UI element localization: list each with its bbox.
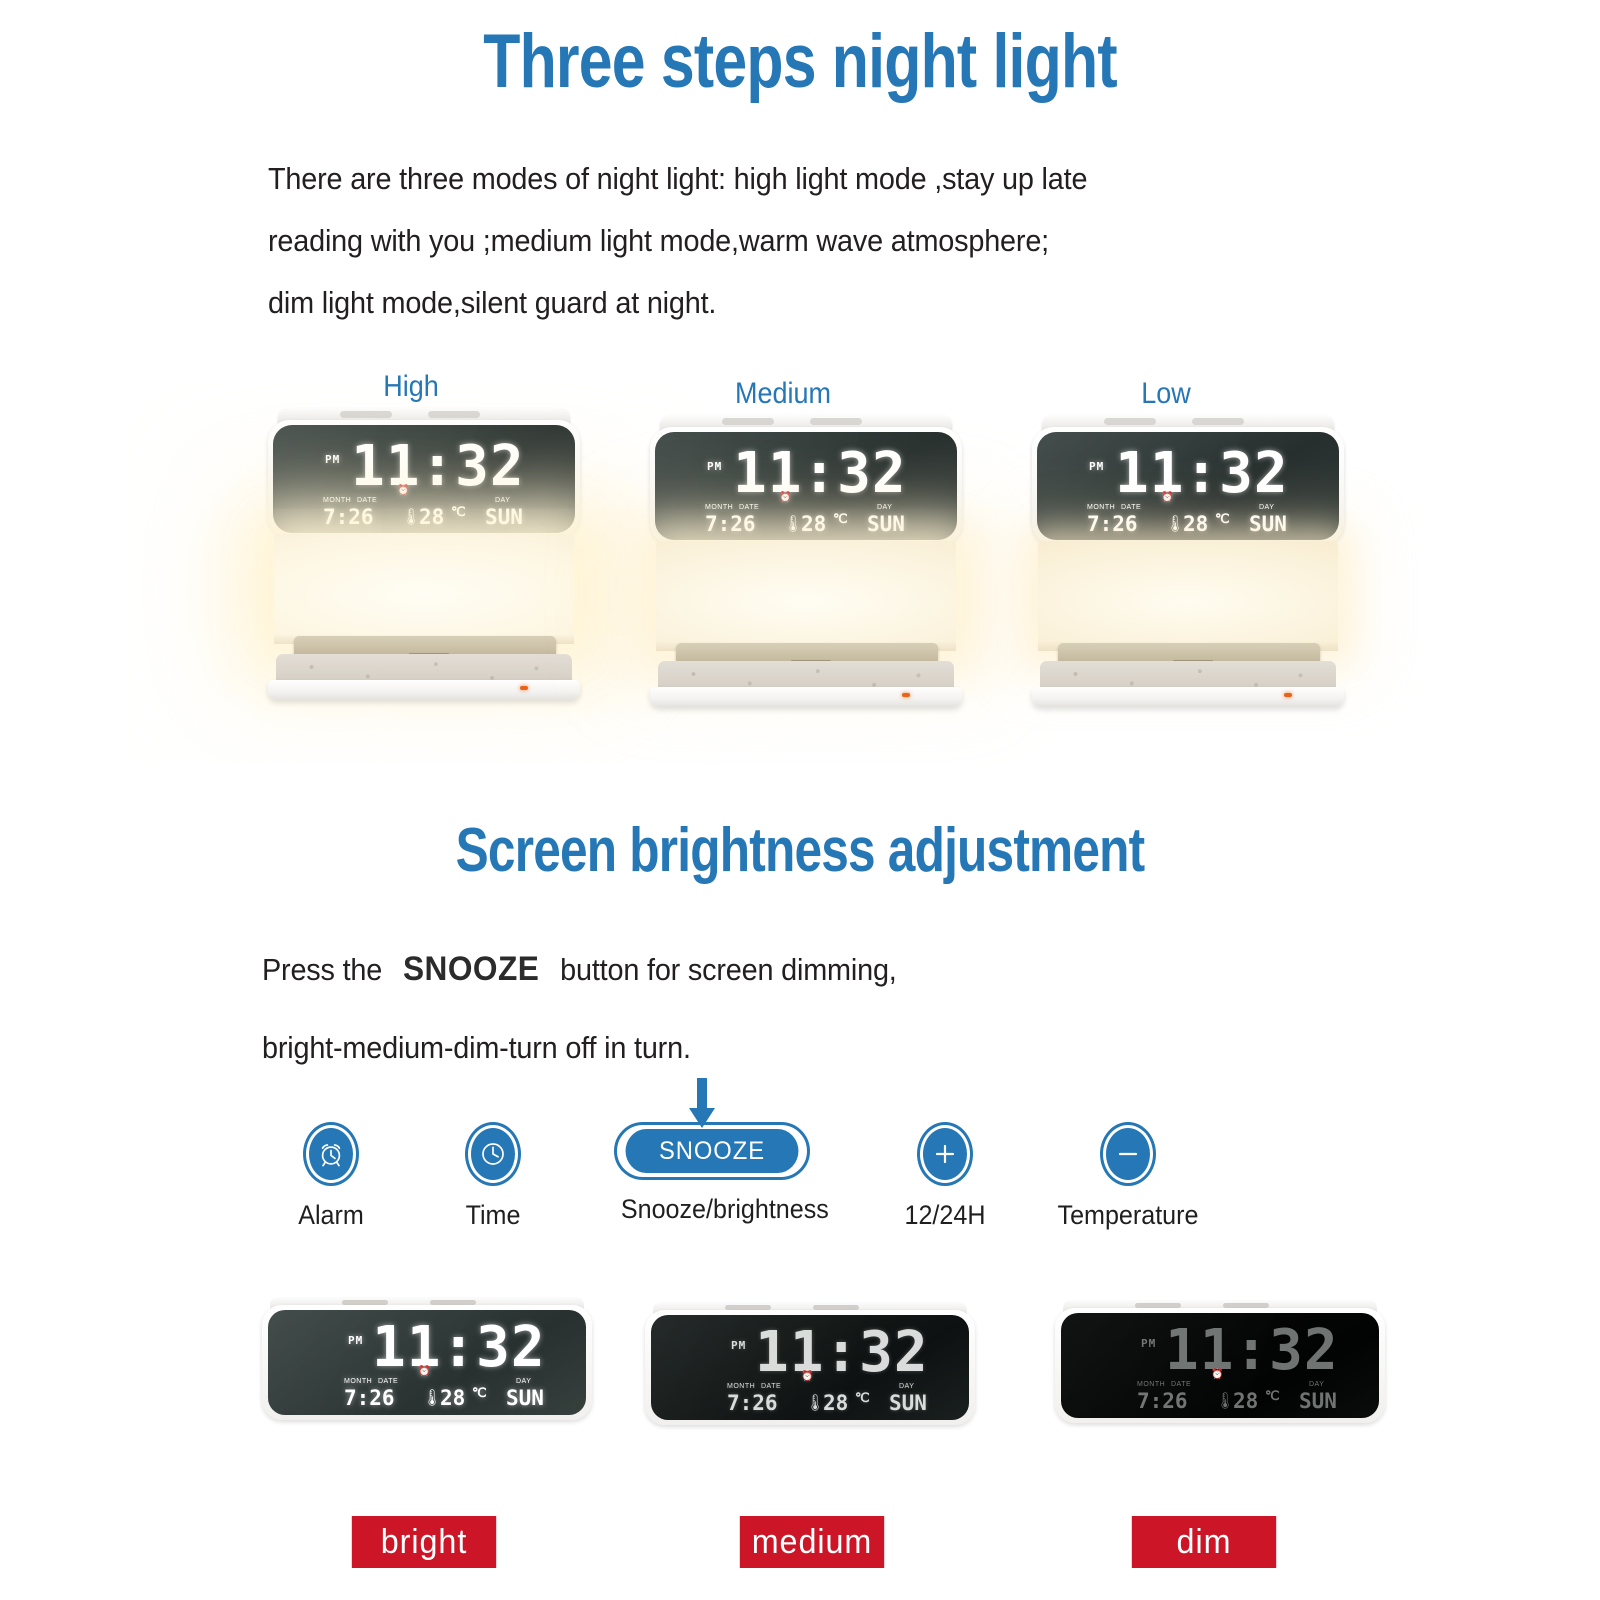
device-base: [650, 687, 962, 707]
lcd-month-label: MONTH: [1087, 504, 1115, 511]
lcd-month-label: MONTH: [727, 1383, 755, 1390]
callout-bright: bright: [348, 1502, 500, 1558]
lcd-time: 11:32: [1115, 446, 1289, 502]
device-screen-housing: PM 11:32 MONTH DATE 7:26 🌡 28 ℃ DAY SUN …: [650, 427, 962, 545]
lcd-time: 11:32: [372, 1320, 546, 1376]
night-light-paragraph: There are three modes of night light: hi…: [268, 148, 1087, 334]
clock-icon: [471, 1128, 515, 1180]
time-button-ring[interactable]: [465, 1122, 521, 1186]
device-housing: PM 11:32 MONTH DATE 7:26 🌡 28 ℃ DAY SUN …: [1055, 1308, 1385, 1423]
device-screen-housing: PM 11:32 MONTH DATE 7:26 🌡 28 ℃ DAY SUN …: [268, 420, 580, 538]
button-snooze[interactable]: SNOOZE Snooze/brightness: [614, 1122, 810, 1225]
device-lcd-screen: PM 11:32 MONTH DATE 7:26 🌡 28 ℃ DAY SUN …: [1037, 432, 1339, 540]
device-lcd-screen: PM 11:32 MONTH DATE 7:26 🌡 28 ℃ DAY SUN …: [651, 1315, 969, 1420]
lcd-meridiem: PM: [1089, 460, 1104, 473]
alarm-bell-indicator-icon: ⏰: [1211, 1369, 1223, 1380]
lcd-day: SUN: [506, 1386, 544, 1410]
lcd-day: SUN: [867, 512, 905, 536]
lcd-day-label: DAY: [1309, 1381, 1324, 1388]
lcd-temp-unit: ℃: [1265, 1389, 1280, 1404]
alarm-button-ring[interactable]: [303, 1122, 359, 1186]
lcd-day-label: DAY: [495, 497, 510, 504]
device-lcd-screen: PM 11:32 MONTH DATE 7:26 🌡 28 ℃ DAY SUN …: [268, 1310, 586, 1415]
device-base: [268, 680, 580, 700]
thermometer-icon: 🌡: [422, 1388, 442, 1407]
snooze-button-ring[interactable]: SNOOZE: [614, 1122, 810, 1180]
paragraph-line-1: Press the SNOOZE button for screen dimmi…: [262, 930, 897, 1009]
button-label: Time: [400, 1200, 586, 1231]
charging-led-indicator: [520, 686, 528, 690]
callout-label: bright: [352, 1516, 496, 1568]
lcd-temp-unit: ℃: [855, 1391, 870, 1406]
lcd-meridiem: PM: [1141, 1337, 1156, 1350]
lcd-date-label: DATE: [378, 1378, 398, 1385]
lcd-date-label: DATE: [357, 497, 377, 504]
lcd-meridiem: PM: [325, 453, 340, 466]
lcd-meridiem: PM: [348, 1334, 363, 1347]
screen-sample-dim: PM 11:32 MONTH DATE 7:26 🌡 28 ℃ DAY SUN …: [1055, 1300, 1385, 1425]
alarm-clock-icon: [309, 1128, 353, 1180]
lcd-temperature: 28: [823, 1391, 848, 1415]
button-for-text: button for screen dimming,: [560, 952, 896, 987]
lcd-month-label: MONTH: [705, 504, 733, 511]
lcd-day-label: DAY: [516, 1378, 531, 1385]
alarm-bell-indicator-icon: ⏰: [1161, 492, 1173, 503]
thermometer-icon: 🌡: [401, 507, 421, 526]
mode-caption-low: Low: [1049, 377, 1283, 411]
lcd-temperature: 28: [1233, 1389, 1258, 1413]
lcd-day: SUN: [1299, 1389, 1337, 1413]
night-light-device-high: PM 11:32 MONTH DATE 7:26 🌡 28 ℃ DAY SUN …: [258, 408, 588, 708]
device-housing: PM 11:32 MONTH DATE 7:26 🌡 28 ℃ DAY SUN …: [645, 1310, 975, 1425]
paragraph-line: There are three modes of night light: hi…: [268, 148, 1087, 210]
lcd-day-label: DAY: [877, 504, 892, 511]
lcd-date: 7:26: [344, 1386, 395, 1410]
press-the-text: Press the: [262, 952, 382, 987]
lcd-day: SUN: [1249, 512, 1287, 536]
plus-button-ring[interactable]: [917, 1122, 973, 1186]
lcd-time: 11:32: [1165, 1323, 1339, 1379]
thermometer-icon: 🌡: [1215, 1391, 1235, 1410]
lcd-date-label: DATE: [739, 504, 759, 511]
mode-caption-high: High: [294, 370, 528, 404]
night-light-panel: [274, 534, 574, 644]
lcd-day-label: DAY: [899, 1383, 914, 1390]
lcd-date-label: DATE: [1171, 1381, 1191, 1388]
night-light-device-low: PM 11:32 MONTH DATE 7:26 🌡 28 ℃ DAY SUN …: [1022, 415, 1352, 715]
lcd-date: 7:26: [705, 512, 756, 536]
callout-dim: dim: [1128, 1502, 1280, 1558]
lcd-temperature: 28: [1183, 512, 1208, 536]
paragraph-line: reading with you ;medium light mode,warm…: [268, 210, 1087, 272]
night-light-panel: [1038, 541, 1338, 651]
page-title-brightness: Screen brightness adjustment: [160, 815, 1440, 886]
button-12-24h[interactable]: 12/24H: [845, 1122, 1045, 1231]
page-title-night-light: Three steps night light: [160, 18, 1440, 105]
plus-icon: [923, 1128, 967, 1180]
thermometer-icon: 🌡: [805, 1393, 825, 1412]
device-lcd-screen: PM 11:32 MONTH DATE 7:26 🌡 28 ℃ DAY SUN …: [273, 425, 575, 533]
lcd-temperature: 28: [801, 512, 826, 536]
callout-medium: medium: [736, 1502, 888, 1558]
device-screen-housing: PM 11:32 MONTH DATE 7:26 🌡 28 ℃ DAY SUN …: [1032, 427, 1344, 545]
lcd-meridiem: PM: [707, 460, 722, 473]
lcd-date-label: DATE: [1121, 504, 1141, 511]
callout-label: medium: [740, 1516, 884, 1568]
lcd-time: 11:32: [351, 439, 525, 495]
lcd-time: 11:32: [733, 446, 907, 502]
button-label: 12/24H: [852, 1200, 1038, 1231]
lcd-day-label: DAY: [1259, 504, 1274, 511]
device-lcd-screen: PM 11:32 MONTH DATE 7:26 🌡 28 ℃ DAY SUN …: [655, 432, 957, 540]
device-lcd-screen: PM 11:32 MONTH DATE 7:26 🌡 28 ℃ DAY SUN …: [1061, 1313, 1379, 1418]
lcd-time: 11:32: [755, 1325, 929, 1381]
night-light-device-medium: PM 11:32 MONTH DATE 7:26 🌡 28 ℃ DAY SUN …: [640, 415, 970, 715]
lcd-month-label: MONTH: [1137, 1381, 1165, 1388]
lcd-day: SUN: [485, 505, 523, 529]
lcd-temp-unit: ℃: [451, 505, 466, 520]
night-light-panel: [656, 541, 956, 651]
snooze-emphasis: SNOOZE: [390, 950, 552, 988]
button-temperature[interactable]: Temperature: [1028, 1122, 1228, 1231]
lcd-month-label: MONTH: [344, 1378, 372, 1385]
thermometer-icon: 🌡: [1165, 514, 1185, 533]
lcd-meridiem: PM: [731, 1339, 746, 1352]
snooze-button-label: SNOOZE: [626, 1129, 799, 1173]
lcd-temp-unit: ℃: [833, 512, 848, 527]
alarm-bell-indicator-icon: ⏰: [397, 485, 409, 496]
charging-led-indicator: [902, 693, 910, 697]
lcd-date: 7:26: [323, 505, 374, 529]
callout-label: dim: [1132, 1516, 1276, 1568]
lcd-month-label: MONTH: [323, 497, 351, 504]
lcd-temp-unit: ℃: [1215, 512, 1230, 527]
lcd-date: 7:26: [727, 1391, 778, 1415]
button-label: Temperature: [1035, 1200, 1221, 1231]
alarm-bell-indicator-icon: ⏰: [779, 492, 791, 503]
lcd-temp-unit: ℃: [472, 1386, 487, 1401]
button-label: Snooze/brightness: [621, 1194, 803, 1225]
lcd-temperature: 28: [419, 505, 444, 529]
alarm-bell-indicator-icon: ⏰: [418, 1366, 430, 1377]
alarm-bell-indicator-icon: ⏰: [801, 1371, 813, 1382]
lcd-day: SUN: [889, 1391, 927, 1415]
lcd-date: 7:26: [1137, 1389, 1188, 1413]
thermometer-icon: 🌡: [783, 514, 803, 533]
screen-sample-bright: PM 11:32 MONTH DATE 7:26 🌡 28 ℃ DAY SUN …: [262, 1297, 592, 1422]
minus-button-ring[interactable]: [1100, 1122, 1156, 1186]
device-housing: PM 11:32 MONTH DATE 7:26 🌡 28 ℃ DAY SUN …: [262, 1305, 592, 1420]
brightness-paragraph: Press the SNOOZE button for screen dimmi…: [262, 930, 897, 1087]
lcd-date: 7:26: [1087, 512, 1138, 536]
device-base: [1032, 687, 1344, 707]
paragraph-line: dim light mode,silent guard at night.: [268, 272, 1087, 334]
paragraph-line-2: bright-medium-dim-turn off in turn.: [262, 1009, 897, 1087]
screen-sample-medium: PM 11:32 MONTH DATE 7:26 🌡 28 ℃ DAY SUN …: [645, 1302, 975, 1427]
button-time[interactable]: Time: [393, 1122, 593, 1231]
mode-caption-medium: Medium: [666, 377, 900, 411]
minus-icon: [1106, 1128, 1150, 1180]
lcd-date-label: DATE: [761, 1383, 781, 1390]
charging-led-indicator: [1284, 693, 1292, 697]
lcd-temperature: 28: [440, 1386, 465, 1410]
